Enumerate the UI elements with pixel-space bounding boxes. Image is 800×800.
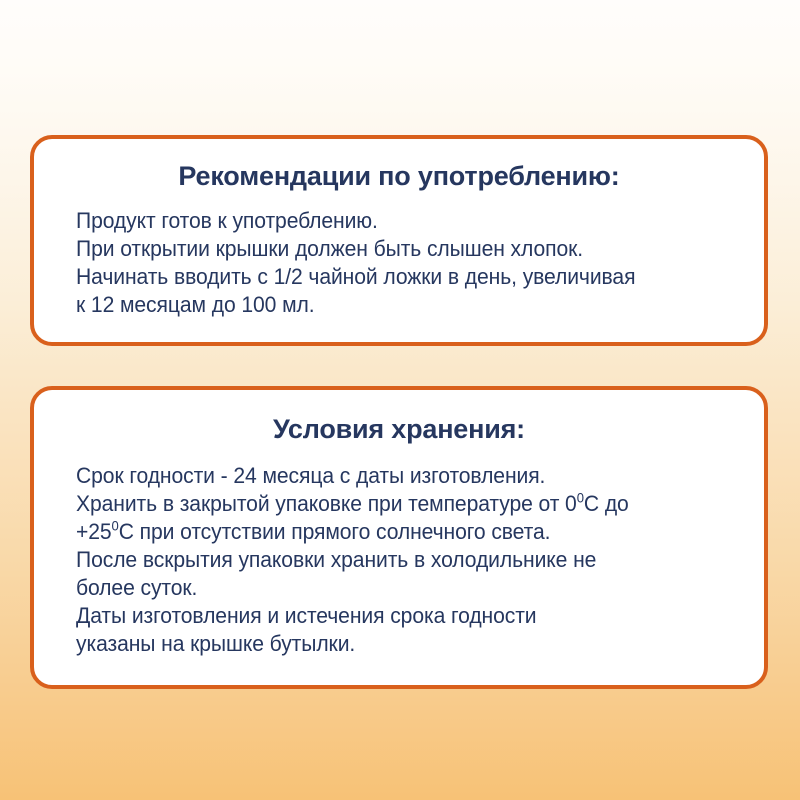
recommendations-body: Продукт готов к употреблению. При открыт… xyxy=(76,207,696,319)
recommendations-line-3: Начинать вводить с 1/2 чайной ложки в де… xyxy=(76,263,696,291)
product-label-panel: Рекомендации по употреблению: Продукт го… xyxy=(0,0,800,800)
storage-line-2: Хранить в закрытой упаковке при температ… xyxy=(76,490,696,518)
recommendations-heading: Рекомендации по употреблению: xyxy=(76,159,722,193)
storage-line-4: После вскрытия упаковки хранить в холоди… xyxy=(76,546,696,574)
storage-line-5: более суток. xyxy=(76,574,696,602)
recommendations-line-2: При открытии крышки должен быть слышен х… xyxy=(76,235,696,263)
storage-conditions-card: Условия хранения: Срок годности - 24 мес… xyxy=(30,386,768,689)
storage-conditions-body: Срок годности - 24 месяца с даты изготов… xyxy=(76,462,696,658)
recommendations-line-1: Продукт готов к употреблению. xyxy=(76,207,696,235)
storage-line-6: Даты изготовления и истечения срока годн… xyxy=(76,602,696,630)
storage-line-1: Срок годности - 24 месяца с даты изготов… xyxy=(76,462,696,490)
storage-conditions-heading: Условия хранения: xyxy=(76,412,722,446)
storage-line-7: указаны на крышке бутылки. xyxy=(76,630,696,658)
storage-line-3: +250С при отсутствии прямого солнечного … xyxy=(76,518,696,546)
recommendations-card: Рекомендации по употреблению: Продукт го… xyxy=(30,135,768,346)
recommendations-line-4: к 12 месяцам до 100 мл. xyxy=(76,291,696,319)
